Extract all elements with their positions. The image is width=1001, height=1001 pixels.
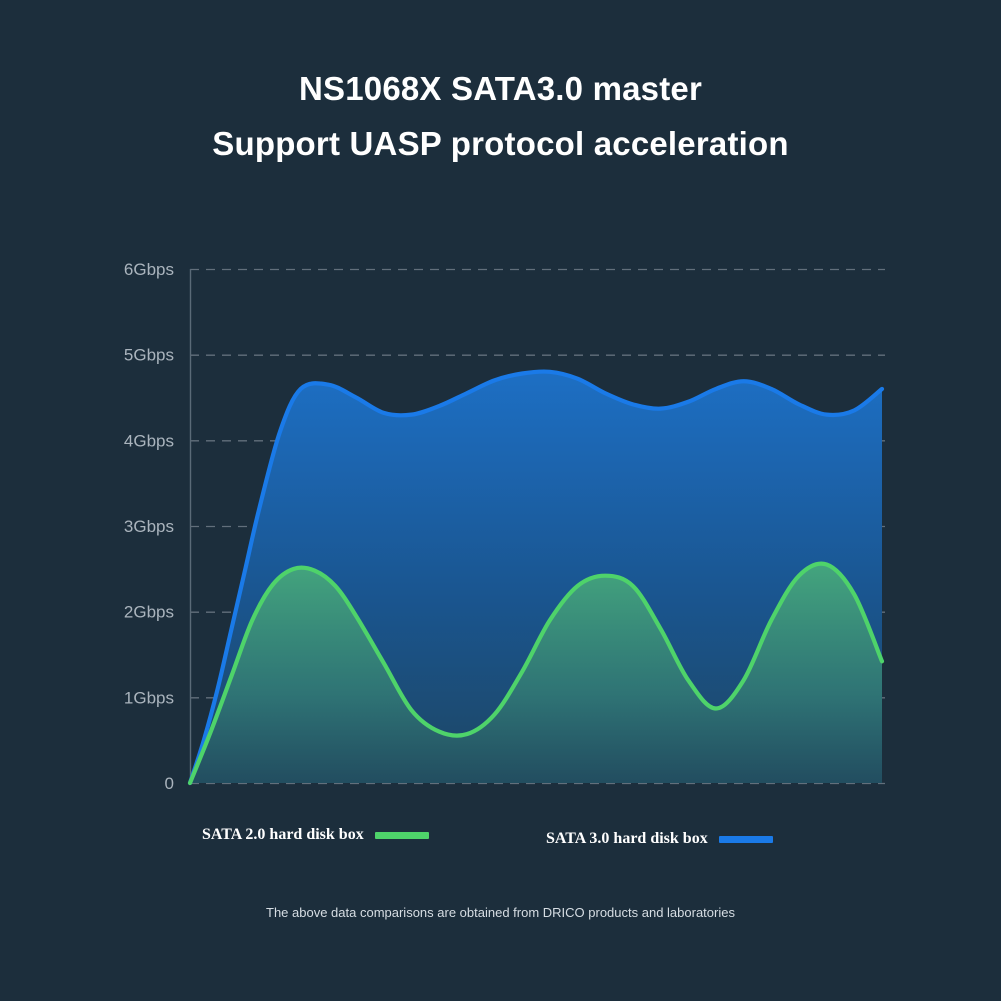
legend-swatch-sata2 [375,832,429,839]
legend-item-sata3[interactable]: SATA 3.0 hard disk box [546,830,773,848]
chart-legend: SATA 2.0 hard disk box SATA 3.0 hard dis… [190,826,890,856]
y-tick-label: 2Gbps [124,603,174,622]
y-tick-label: 6Gbps [124,260,174,279]
legend-item-sata2[interactable]: SATA 2.0 hard disk box [202,826,429,844]
chart-footnote: The above data comparisons are obtained … [0,905,1001,920]
y-axis-tick-labels: 01Gbps2Gbps3Gbps4Gbps5Gbps6Gbps [124,260,174,793]
y-tick-label: 3Gbps [124,517,174,536]
legend-label-sata2: SATA 2.0 hard disk box [202,826,364,844]
legend-swatch-sata3 [719,836,773,843]
y-tick-label: 1Gbps [124,688,174,707]
legend-label-sata3: SATA 3.0 hard disk box [546,830,708,848]
y-tick-label: 5Gbps [124,346,174,365]
y-tick-label: 0 [165,774,174,793]
y-tick-label: 4Gbps [124,431,174,450]
chart-page: NS1068X SATA3.0 master Support UASP prot… [0,0,1001,1001]
